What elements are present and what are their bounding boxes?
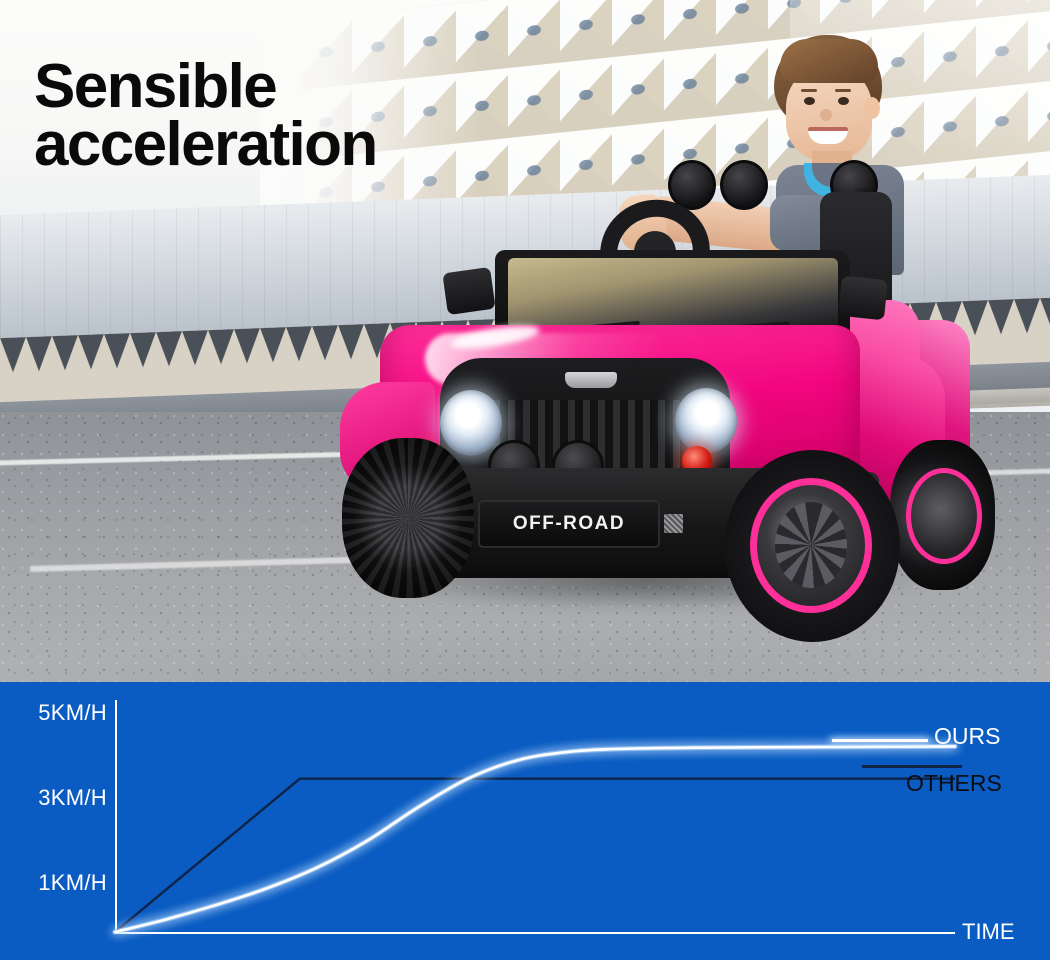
wheel-rear-right-rim (906, 468, 982, 564)
child-eyebrow-left (801, 89, 817, 92)
series-line-others (115, 779, 955, 932)
headlight-left (440, 390, 502, 456)
wheel-front-right-spokes (775, 502, 847, 588)
child-eye-left (804, 97, 815, 105)
child-ear (864, 97, 880, 119)
wheel-front-left-tread (342, 438, 474, 598)
grille-badge (565, 372, 617, 388)
windshield-glass (508, 258, 838, 328)
series-line-ours (115, 746, 955, 932)
headline-line-2: acceleration (34, 116, 554, 174)
child-hair-fringe (780, 39, 878, 83)
headlight-right (675, 388, 737, 454)
ride-on-jeep: OFF-ROAD (330, 150, 980, 680)
plate-stud-right (664, 514, 683, 533)
series-line-ours-glow (115, 746, 955, 932)
child-eye-right (838, 97, 849, 105)
side-mirror-right (838, 276, 888, 321)
child-eyebrow-right (835, 89, 851, 92)
license-plate-text: OFF-ROAD (513, 513, 625, 535)
legend-label-ours: OURS (934, 723, 1000, 750)
legend-swatch-others (862, 765, 962, 768)
chart-series-layer (0, 682, 1050, 960)
legend-label-others: OTHERS (906, 770, 1002, 797)
child-nose (820, 109, 832, 121)
license-plate: OFF-ROAD (478, 500, 660, 548)
legend-swatch-ours (832, 739, 928, 742)
side-mirror-left (442, 267, 495, 315)
page-title: Sensible acceleration (34, 58, 554, 175)
roof-spotlamp-icon (720, 160, 768, 210)
promo-banner: OFF-ROAD Sensible acceleration 5KM/H 3KM… (0, 0, 1050, 960)
